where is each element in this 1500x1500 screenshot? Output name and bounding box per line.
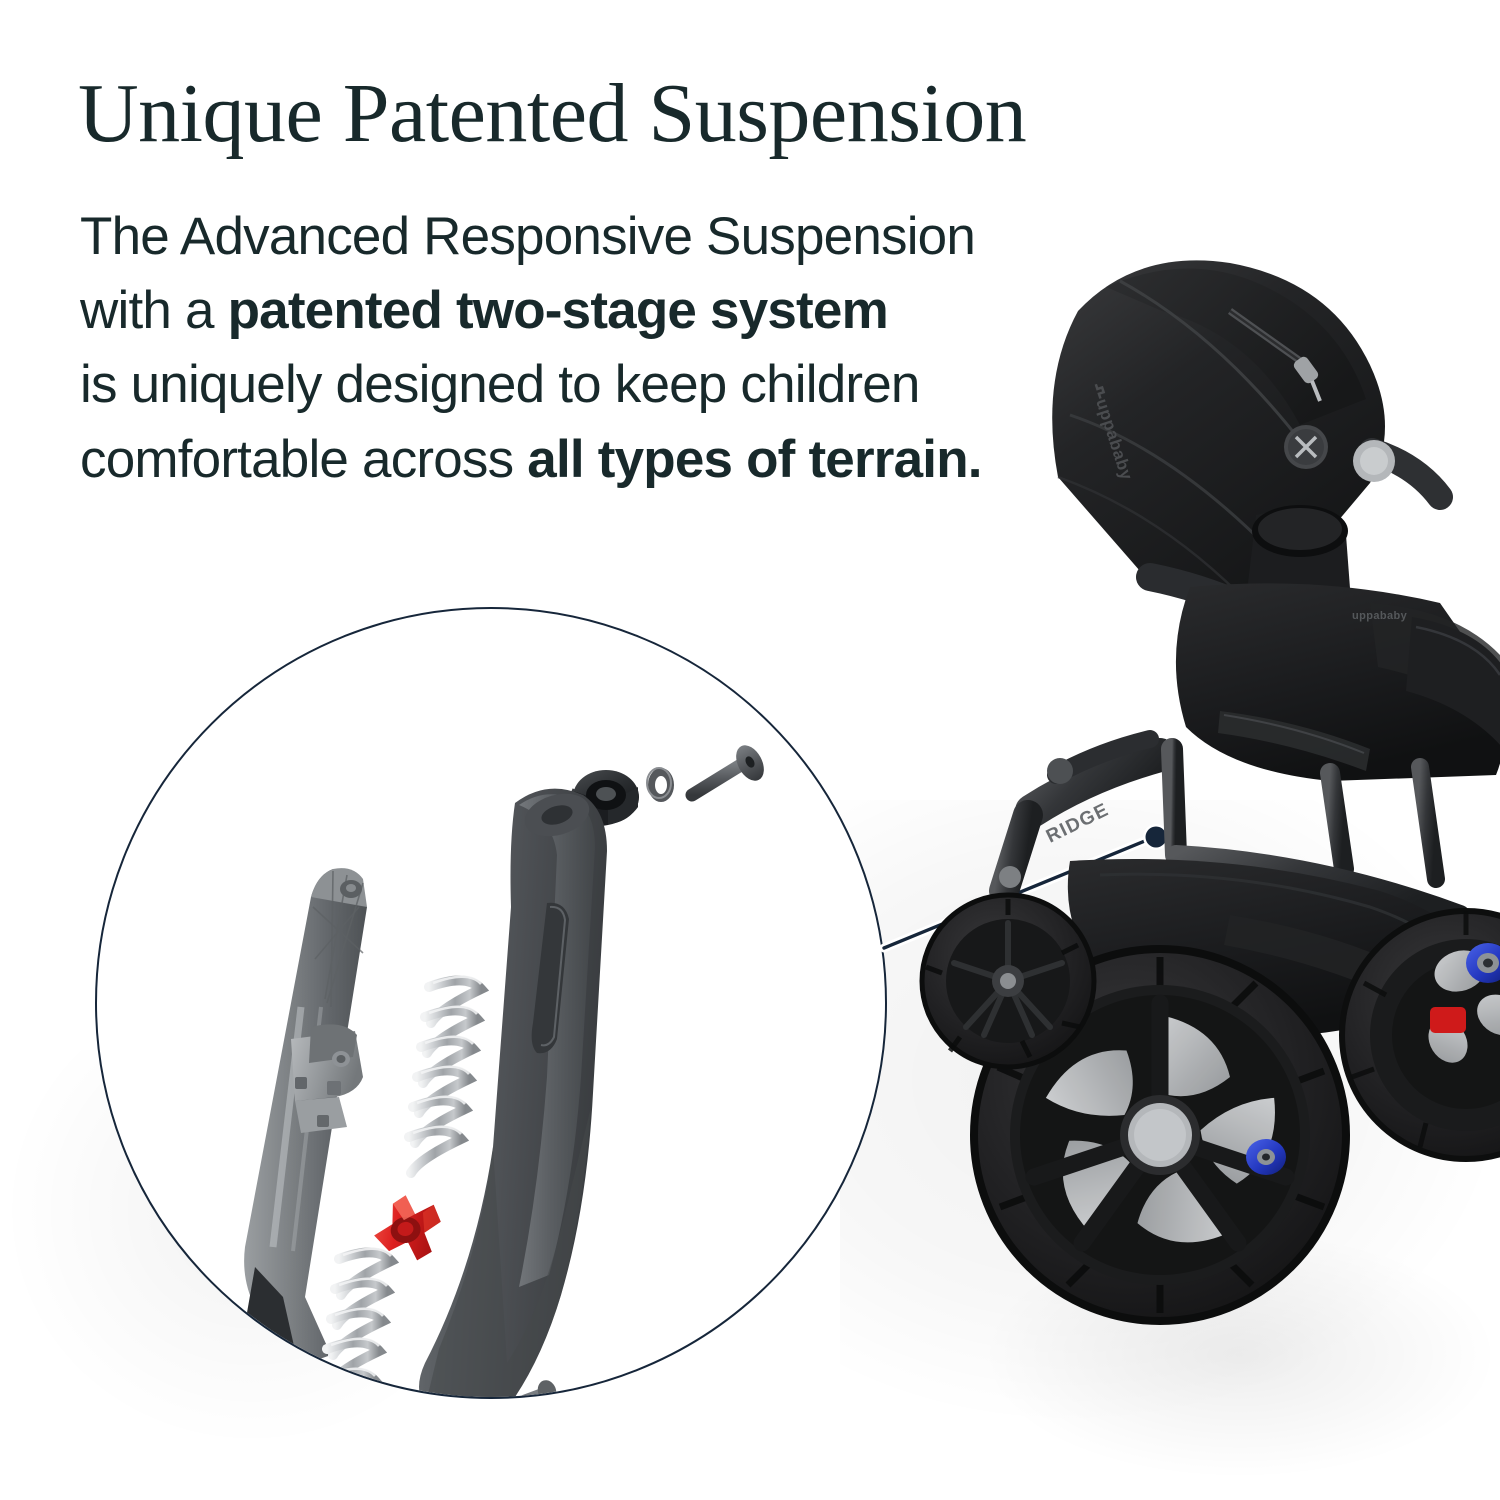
part-flat-washer bbox=[647, 768, 674, 802]
part-lower-tube bbox=[295, 1373, 395, 1399]
part-pivot-bolt bbox=[692, 741, 770, 795]
body-line-1: The Advanced Responsive Suspension bbox=[80, 207, 975, 266]
wheel-reflector bbox=[1430, 1007, 1466, 1033]
canopy-hinge-button[interactable] bbox=[1284, 425, 1328, 469]
part-mount-bracket bbox=[291, 1024, 363, 1133]
product-feature-card: Unique Patented Suspension The Advanced … bbox=[0, 0, 1500, 1500]
page-title: Unique Patented Suspension bbox=[78, 72, 1378, 156]
body-line-2-emphasis: patented two-stage system bbox=[228, 281, 888, 340]
suspension-exploded-diagram bbox=[95, 607, 887, 1399]
stroller-seat: uppababy bbox=[1176, 583, 1500, 781]
part-lower-coil-spring bbox=[323, 1252, 391, 1399]
body-line-3: is uniquely designed to keep children bbox=[80, 355, 920, 414]
front-hub-blue-accent bbox=[1246, 1139, 1286, 1175]
front-fork-pivot bbox=[999, 866, 1021, 888]
seat-brand-tag: uppababy bbox=[1352, 610, 1408, 622]
body-line-4-prefix: comfortable across bbox=[80, 430, 527, 489]
body-line-2-prefix: with a bbox=[80, 281, 228, 340]
front-swivel-wheel bbox=[922, 895, 1094, 1067]
stroller-product-image: uppababy bbox=[900, 215, 1500, 1375]
